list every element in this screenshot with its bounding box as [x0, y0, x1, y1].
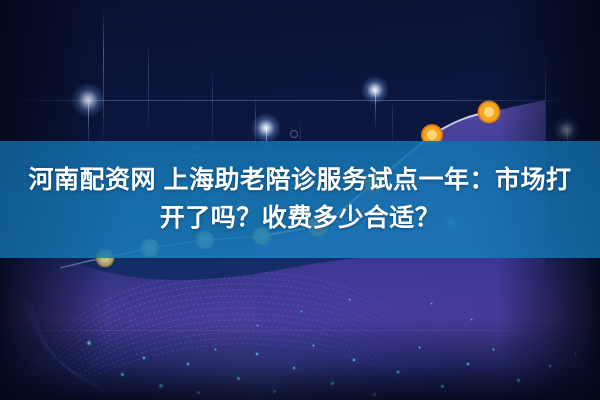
- particle: [158, 383, 164, 389]
- particle: [492, 348, 495, 351]
- particle: [574, 352, 577, 355]
- particle: [466, 362, 470, 366]
- glow-point: [251, 113, 281, 143]
- particle: [348, 298, 351, 301]
- particle: [352, 358, 356, 362]
- chart-marker-core: [427, 130, 437, 140]
- particle: [255, 352, 259, 356]
- title-band: 河南配资网 上海助老陪诊服务试点一年：市场打开了吗？收费多少合适？: [0, 141, 600, 258]
- particle: [236, 376, 241, 381]
- particle: [396, 370, 400, 374]
- particle: [516, 378, 521, 383]
- particle: [430, 302, 433, 305]
- particle: [214, 348, 217, 351]
- particle: [292, 366, 296, 370]
- particle: [186, 362, 190, 366]
- decor-ring-icon: [291, 131, 298, 138]
- particle: [548, 364, 552, 368]
- background-gradient-bottom: [0, 255, 600, 400]
- glow-point: [361, 76, 389, 104]
- particle: [86, 340, 92, 346]
- glow-point: [554, 117, 580, 143]
- background-glow-tint: [0, 255, 600, 400]
- particle: [440, 384, 445, 389]
- wave-shape-shadow: [66, 258, 362, 280]
- banner-image: 河南配资网 上海助老陪诊服务试点一年：市场打开了吗？收费多少合适？: [0, 0, 600, 400]
- particle: [418, 346, 421, 349]
- particle: [272, 389, 277, 394]
- particle: [372, 392, 377, 397]
- particle: [196, 390, 201, 395]
- page-title: 河南配资网 上海助老陪诊服务试点一年：市场打开了吗？收费多少合适？: [20, 162, 580, 237]
- particle: [470, 318, 473, 321]
- grid-line-vertical: [148, 42, 149, 137]
- glow-point: [71, 83, 105, 117]
- particle: [142, 356, 146, 360]
- particle: [312, 344, 315, 347]
- grid-line-horizontal: [0, 330, 600, 331]
- particle: [256, 324, 259, 327]
- grid-line-vertical: [103, 10, 104, 145]
- particle: [300, 310, 303, 313]
- chart-marker: [479, 102, 500, 123]
- grid-line-vertical: [212, 70, 213, 150]
- particle: [120, 372, 125, 377]
- particle: [330, 381, 335, 386]
- mesh-wave: [10, 272, 600, 400]
- chart-marker-core: [484, 107, 494, 117]
